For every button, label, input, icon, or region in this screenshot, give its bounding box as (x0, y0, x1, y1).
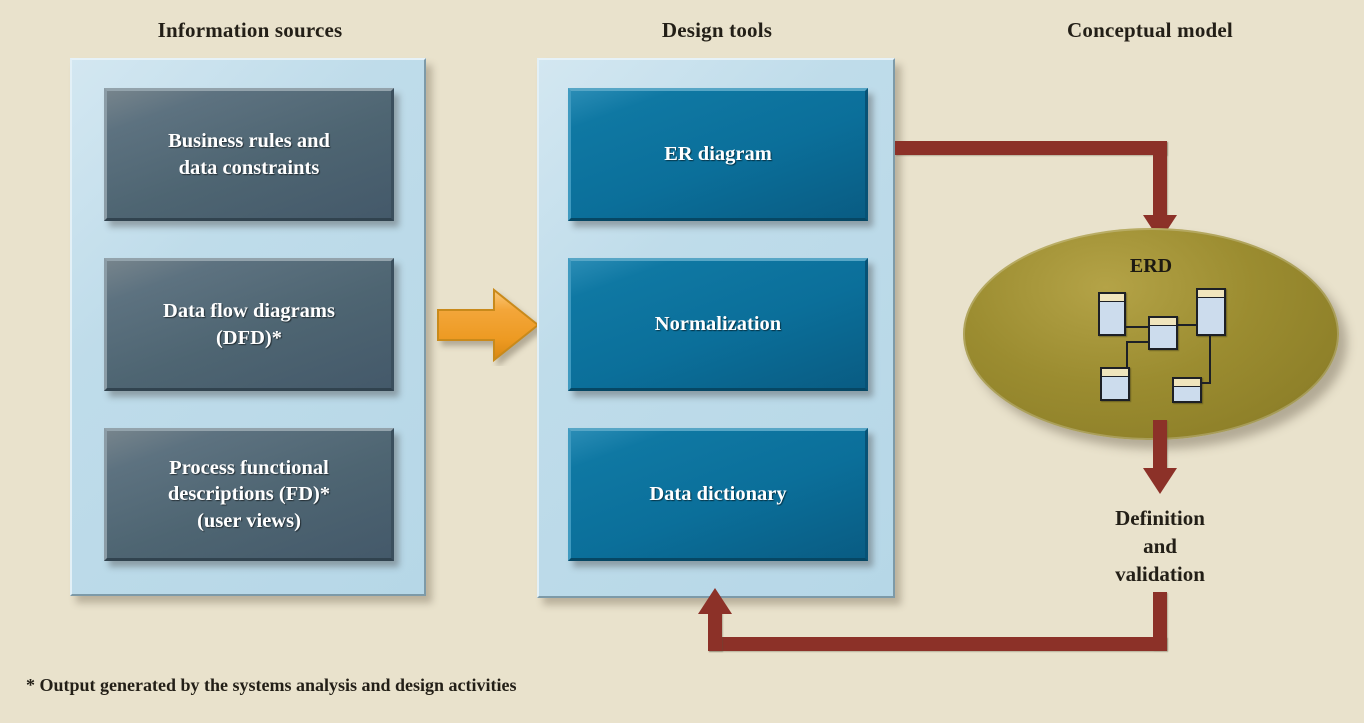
erd-connector (1126, 326, 1148, 328)
arrow-up-to-design-tools-icon (698, 588, 732, 614)
box-data-flow-diagrams-label: Data flow diagrams(DFD)* (155, 298, 343, 350)
arrow-down-to-definition-icon (1143, 468, 1177, 494)
erd-entity-3 (1100, 367, 1130, 401)
column-title-design-tools: Design tools (547, 18, 887, 43)
box-er-diagram-label: ER diagram (656, 141, 780, 167)
erd-entity-1 (1098, 292, 1126, 336)
box-process-functional-descriptions[interactable]: Process functionaldescriptions (FD)*(use… (104, 428, 394, 561)
box-business-rules[interactable]: Business rules anddata constraints (104, 88, 394, 221)
box-data-flow-diagrams[interactable]: Data flow diagrams(DFD)* (104, 258, 394, 391)
definition-and-validation-label: Definitionandvalidation (1010, 505, 1310, 589)
box-process-functional-descriptions-label: Process functionaldescriptions (FD)*(use… (160, 455, 338, 533)
erd-entity-header (1150, 318, 1176, 326)
flow-feedback-vertical-left (708, 612, 722, 651)
erd-entity-header (1102, 369, 1128, 377)
erd-entity-header (1174, 379, 1200, 387)
box-business-rules-label: Business rules anddata constraints (160, 128, 338, 180)
erd-connector (1178, 324, 1196, 326)
erd-entity-header (1198, 290, 1224, 298)
box-data-dictionary-label: Data dictionary (641, 481, 794, 507)
erd-connector (1200, 382, 1211, 384)
erd-entity-header (1100, 294, 1124, 302)
flow-feedback-horizontal (708, 637, 1167, 651)
box-normalization-label: Normalization (647, 311, 789, 337)
box-data-dictionary[interactable]: Data dictionary (568, 428, 868, 561)
diagram-canvas: Information sources Design tools Concept… (0, 0, 1364, 723)
erd-connector (1126, 341, 1148, 343)
erd-label: ERD (963, 255, 1339, 278)
erd-connector (1126, 341, 1128, 369)
flow-er-to-erd-horizontal (895, 141, 1167, 155)
erd-connector (1209, 336, 1211, 382)
erd-entity-2 (1196, 288, 1226, 336)
flow-er-to-erd-vertical (1153, 141, 1167, 221)
box-er-diagram[interactable]: ER diagram (568, 88, 868, 221)
box-normalization[interactable]: Normalization (568, 258, 868, 391)
erd-entity-4 (1172, 377, 1202, 403)
footnote: * Output generated by the systems analys… (26, 675, 517, 696)
right-arrow-icon (434, 284, 542, 366)
column-title-information-sources: Information sources (80, 18, 420, 43)
flow-erd-to-definition-vertical (1153, 420, 1167, 475)
erd-entity-center (1148, 316, 1178, 350)
column-title-conceptual-model: Conceptual model (980, 18, 1320, 43)
